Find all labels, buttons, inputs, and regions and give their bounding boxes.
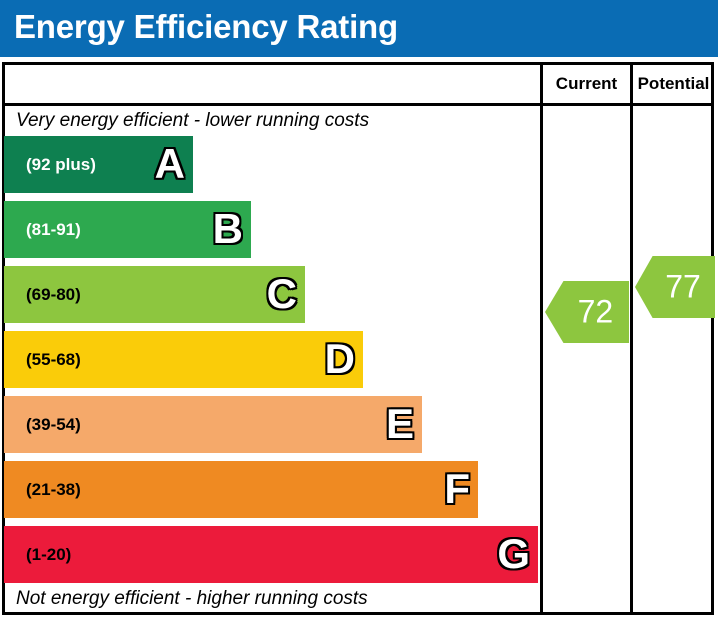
column-divider-potential [630,62,633,615]
band-range-g: (1-20) [26,545,71,565]
caption-top: Very energy efficient - lower running co… [16,110,369,132]
column-divider-current [540,62,543,615]
band-letter-g: G [497,533,530,575]
band-d: (55-68)D [4,331,363,388]
page-title: Energy Efficiency Rating [14,8,398,46]
band-e: (39-54)E [4,396,422,453]
band-g: (1-20)G [4,526,538,583]
band-range-f: (21-38) [26,480,81,500]
band-letter-c: C [267,273,297,315]
rating-value-current: 72 [565,295,625,327]
energy-efficiency-rating-chart: Energy Efficiency Rating Current Potenti… [0,0,718,619]
band-range-b: (81-91) [26,220,81,240]
band-range-d: (55-68) [26,350,81,370]
column-header-potential: Potential [633,74,714,94]
caption-bottom: Not energy efficient - higher running co… [16,588,368,610]
band-letter-d: D [325,338,355,380]
band-a: (92 plus)A [4,136,193,193]
band-c: (69-80)C [4,266,305,323]
band-range-c: (69-80) [26,285,81,305]
band-f: (21-38)F [4,461,478,518]
rating-value-potential: 77 [654,270,712,302]
band-letter-f: F [444,468,470,510]
band-b: (81-91)B [4,201,251,258]
band-letter-b: B [213,208,243,250]
band-letter-a: A [155,143,185,185]
header-row-separator [2,103,714,106]
column-header-current: Current [543,74,630,94]
band-letter-e: E [386,403,414,445]
band-range-e: (39-54) [26,415,81,435]
band-range-a: (92 plus) [26,155,96,175]
